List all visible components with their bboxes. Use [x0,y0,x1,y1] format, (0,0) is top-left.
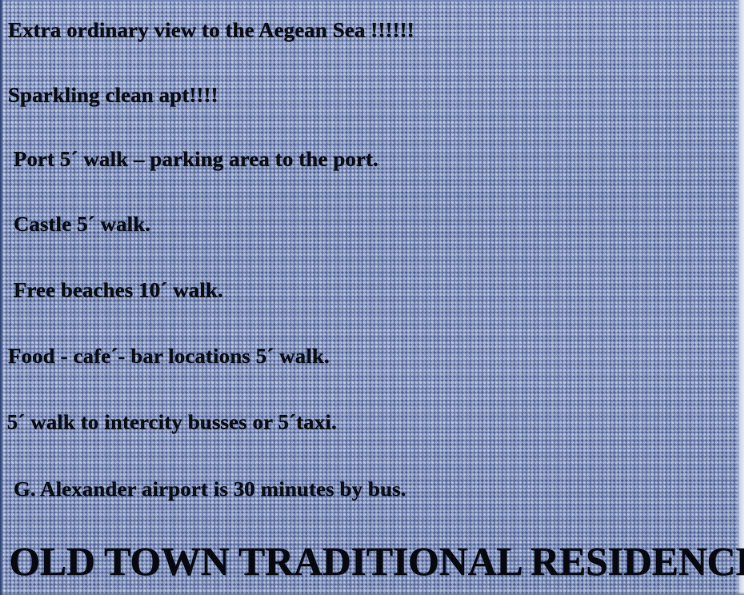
text-content-block: Extra ordinary view to the Aegean Sea !!… [0,0,744,595]
headline-aegean-sea-view: Extra ordinary view to the Aegean Sea !!… [0,17,744,43]
feature-airport-travel-time: G. Alexander airport is 30 minutes by bu… [0,476,744,502]
fabric-text-graphic: Extra ordinary view to the Aegean Sea !!… [0,0,744,595]
feature-castle-walk-distance: Castle 5´ walk. [0,211,744,237]
feature-food-cafe-bar-distance: Food - cafe´- bar locations 5´ walk. [0,343,744,369]
property-title: OLD TOWN TRADITIONAL RESIDENCE [0,539,744,585]
feature-sparkling-clean-apt: Sparkling clean apt!!!! [0,82,744,108]
feature-port-walk-distance: Port 5´ walk – parking area to the port. [0,146,744,172]
feature-free-beaches-walk-distance: Free beaches 10´ walk. [0,277,744,303]
feature-intercity-bus-taxi-distance: 5´ walk to intercity busses or 5´taxi. [0,409,744,435]
